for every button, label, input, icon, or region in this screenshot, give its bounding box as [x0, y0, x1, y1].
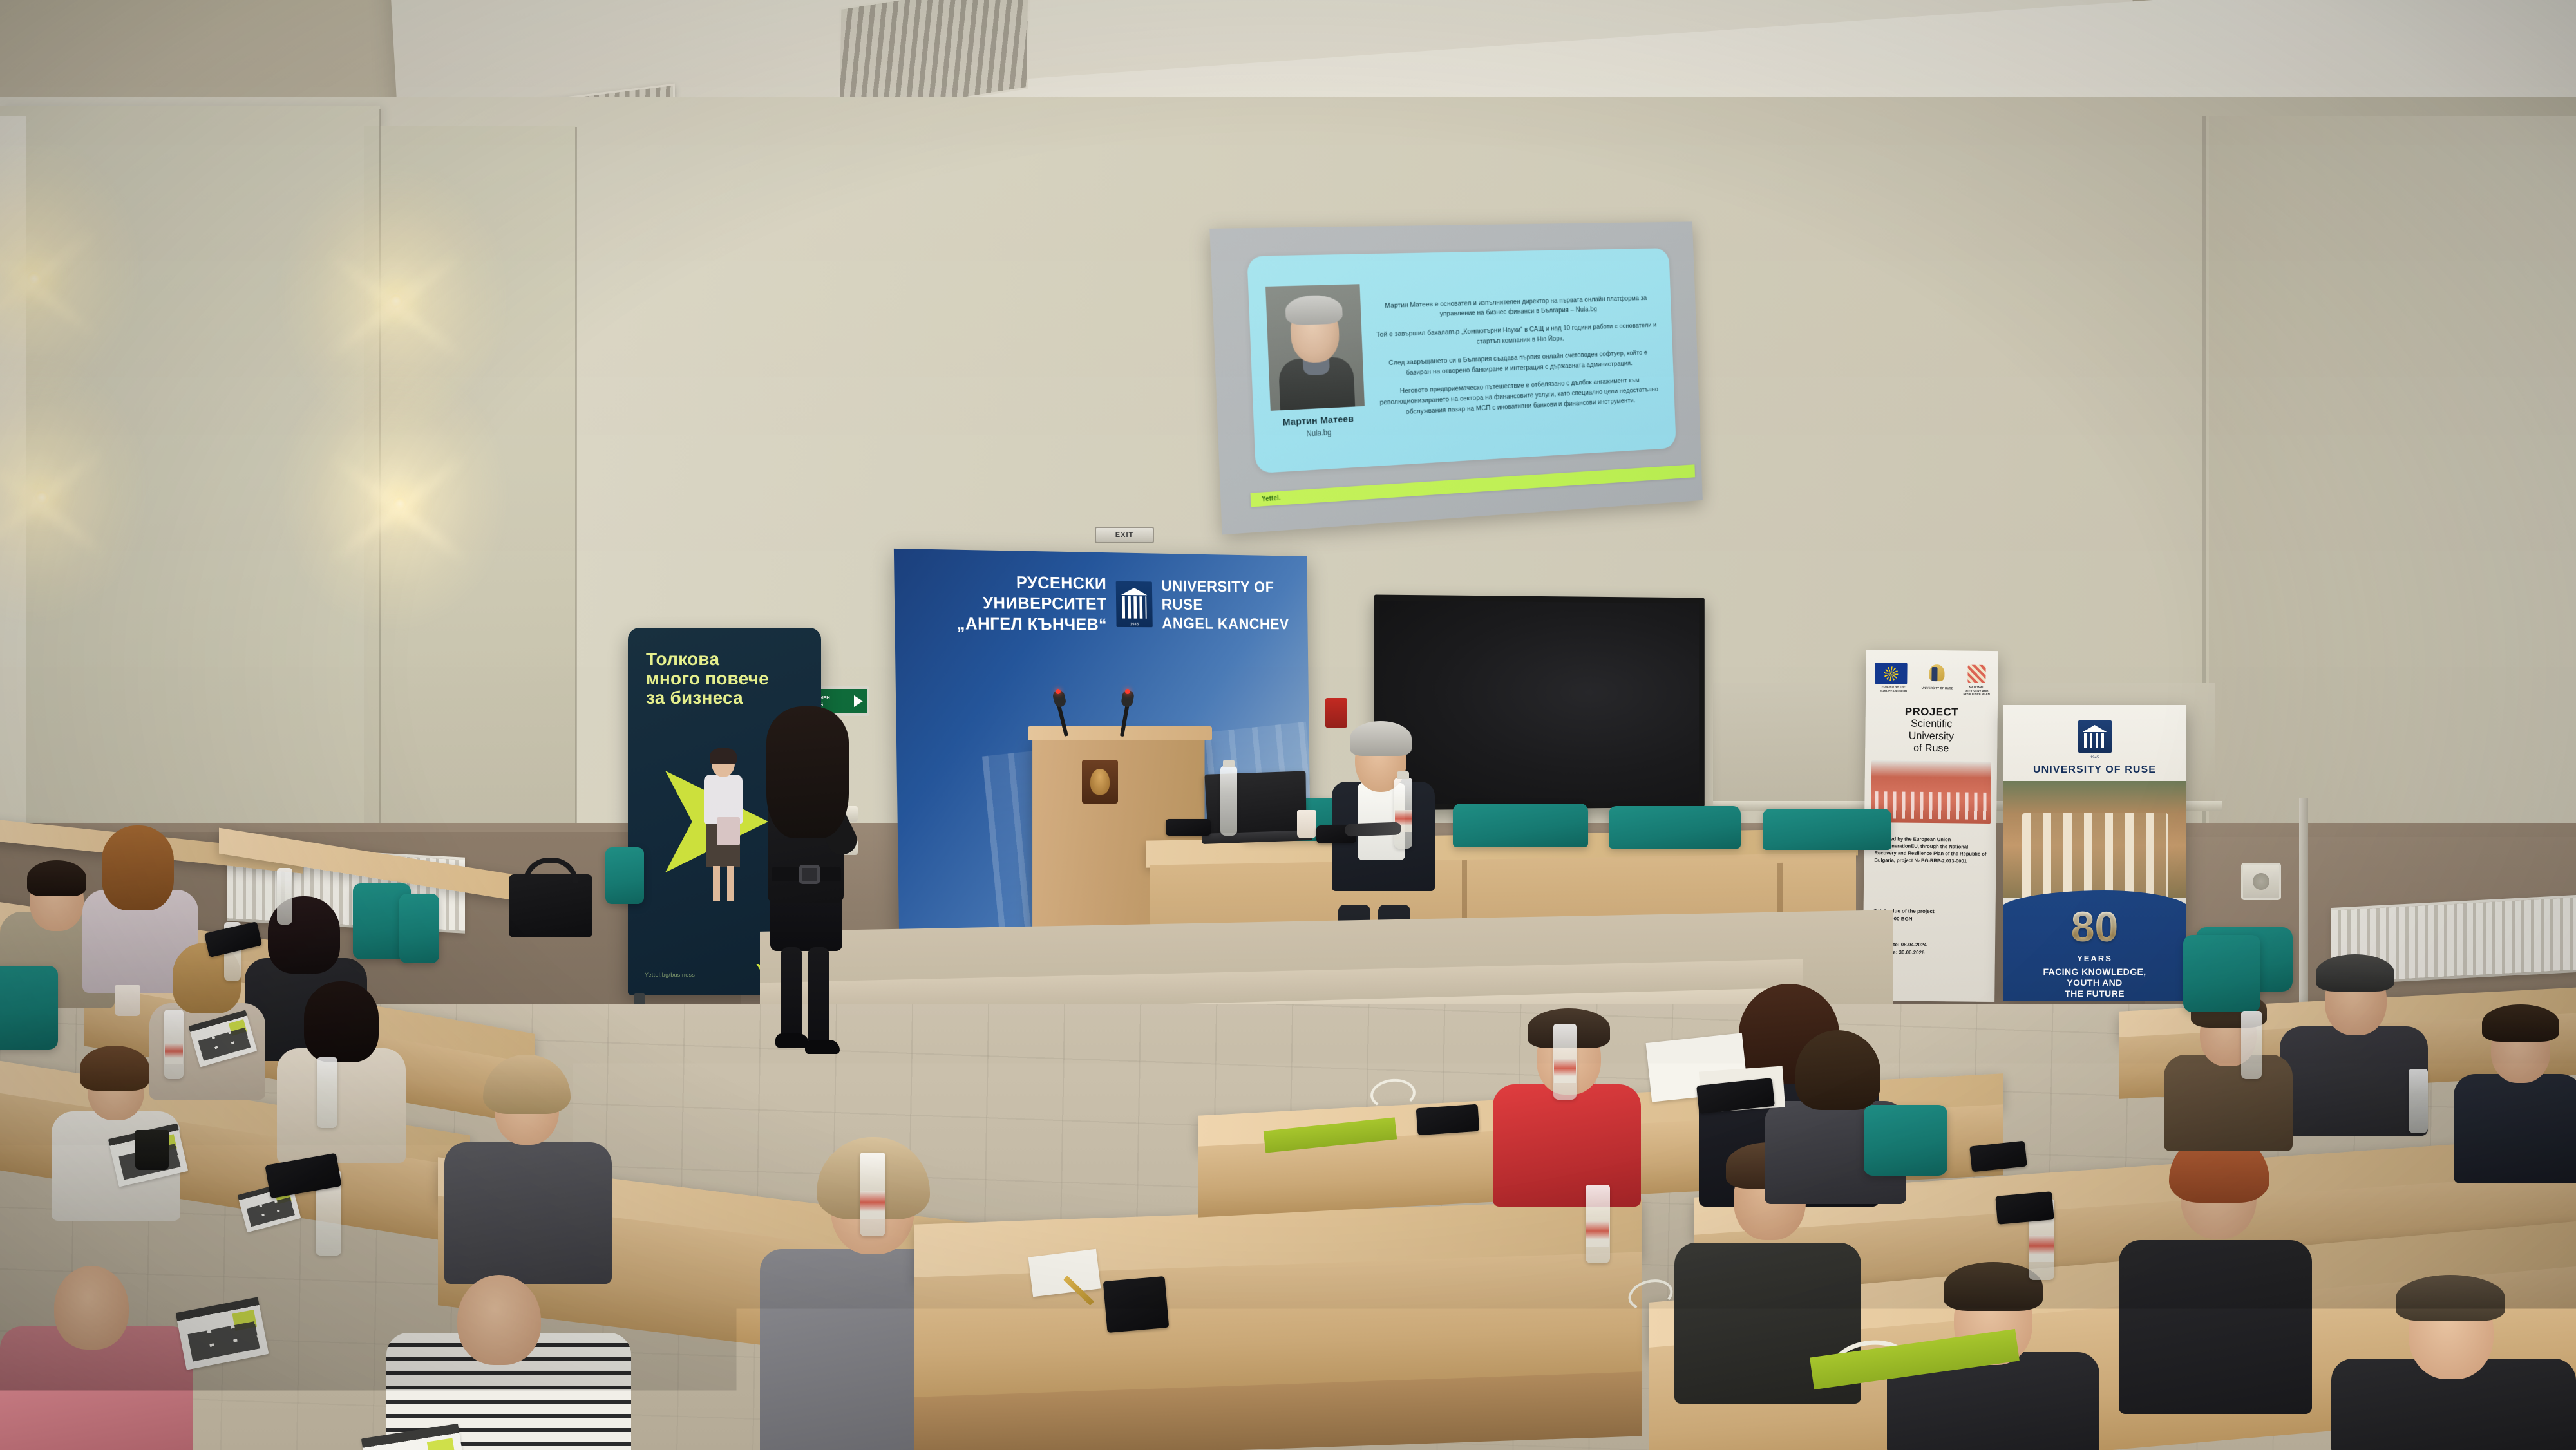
wall-fixture	[2241, 863, 2281, 900]
eu-flag-icon	[1875, 663, 1907, 684]
exit-sign-label: EXIT	[1115, 531, 1133, 539]
slide-portrait-block: Мартин Матеев Nula.bg	[1261, 270, 1370, 457]
wall-seam	[575, 127, 577, 868]
university-logo-year: 1945	[1117, 623, 1153, 627]
anniversary-slogan-line2: YOUTH AND	[2005, 977, 2184, 988]
banner-bulgarian-name: РУСЕНСКИ УНИВЕРСИТЕТ „АНГЕЛ КЪНЧЕВ“	[916, 570, 1107, 635]
university-logo-icon: 1945	[2078, 720, 2112, 753]
eu-flag-logo-block: FUNDED BY THE EUROPEAN UNION	[1875, 663, 1912, 693]
slide-paragraph: Неговото предприемаческо пътешествие е о…	[1378, 375, 1660, 419]
audience-person	[2454, 1004, 2576, 1165]
nrrp-logo-caption: NATIONAL RECOVERY AND RESILIENCE PLAN	[1961, 685, 1992, 697]
banner-bg-line2: „АНГЕЛ КЪНЧЕВ“	[916, 613, 1108, 635]
projection-screen: Мартин Матеев Nula.bg Мартин Матеев е ос…	[1209, 221, 1703, 534]
water-bottle	[2409, 1069, 2428, 1133]
audience-chair[interactable]	[1864, 1105, 1947, 1176]
smartphone[interactable]	[1995, 1191, 2054, 1225]
audience-person	[2331, 1275, 2576, 1450]
anniversary-slogan-line3: THE FUTURE	[2005, 988, 2184, 999]
slide-footer-brand-label: Yettel.	[1262, 494, 1281, 503]
slide-paragraph: След завръщането си в България създава п…	[1377, 348, 1658, 380]
wall-fire-alarm[interactable]	[1325, 698, 1347, 728]
audience-chair[interactable]	[605, 847, 644, 904]
banner-text-row: РУСЕНСКИ УНИВЕРСИТЕТ „АНГЕЛ КЪНЧЕВ“ 1945…	[916, 570, 1297, 636]
bottle-label	[165, 1043, 183, 1064]
project-logo-row: FUNDED BY THE EUROPEAN UNION UNIVERSITY …	[1875, 663, 1993, 697]
audience-person	[2280, 954, 2428, 1122]
audience-person	[2119, 1131, 2312, 1388]
water-bottle	[1220, 766, 1237, 836]
anniversary-rollup-banner: 1945 UNIVERSITY OF RUSE 80 YEARS FACING …	[2003, 705, 2186, 1001]
banner-en-line2: ANGEL KANCHEV	[1162, 614, 1297, 634]
smartphone[interactable]	[1416, 1104, 1480, 1136]
wall-sconce-glow	[277, 361, 509, 631]
uni-logo-block: UNIVERSITY OF RUSE	[1920, 663, 1954, 690]
audience-person	[0, 1262, 193, 1450]
exit-sign: EXIT	[1095, 527, 1154, 543]
laptop-charger	[1166, 819, 1211, 836]
notepad[interactable]	[1028, 1249, 1101, 1297]
audience-person	[277, 979, 406, 1146]
bottle-label	[1586, 1221, 1609, 1247]
audience-chair[interactable]	[399, 894, 439, 963]
audience-chair[interactable]	[0, 966, 58, 1050]
banner-en-line1: UNIVERSITY OF RUSE	[1161, 577, 1296, 616]
audience-chair[interactable]	[2183, 935, 2260, 1012]
slide-speaker-site: Nula.bg	[1306, 428, 1331, 438]
bottle-label	[860, 1191, 885, 1219]
anniversary-university-name: UNIVERSITY OF RUSE	[2003, 764, 2186, 776]
project-title: PROJECT Scientific University of Ruse	[1865, 705, 1998, 756]
rollup-headline-line2: много повече	[646, 669, 812, 688]
audience-person	[386, 1275, 631, 1450]
panel-chair[interactable]	[1609, 806, 1741, 849]
slide-paragraph: Мартин Матеев е основател и изпълнителен…	[1375, 293, 1657, 322]
microphone-led-indicator	[1125, 689, 1130, 694]
nrrp-mark-icon	[1966, 664, 1987, 684]
notebook[interactable]	[1103, 1276, 1170, 1333]
lectern-emblem	[1082, 760, 1118, 804]
anniversary-blue-panel: 80 YEARS FACING KNOWLEDGE, YOUTH AND THE…	[2003, 890, 2186, 1001]
anniversary-years-label: YEARS	[2003, 954, 2186, 963]
panel-chair[interactable]	[1453, 804, 1588, 847]
flyer-qr-code	[232, 1310, 256, 1331]
slide-text-block: Мартин Матеев е основател и изпълнителен…	[1374, 263, 1664, 449]
project-title-line2: Scientific	[1866, 718, 1998, 731]
water-bottle	[2241, 1011, 2262, 1079]
slide-footer-brand-bar: Yettel.	[1251, 464, 1696, 507]
flyer-qr-code	[229, 1019, 247, 1036]
lecture-hall-photo: Мартин Матеев Nula.bg Мартин Матеев е ос…	[0, 0, 2576, 1450]
anniversary-logo-year: 1945	[2078, 756, 2112, 760]
anniversary-building-photo	[2003, 781, 2186, 898]
slide-speaker-name: Мартин Матеев	[1282, 413, 1354, 428]
presenter-person	[741, 699, 902, 1062]
nrrp-logo-block: NATIONAL RECOVERY AND RESILIENCE PLAN	[1961, 663, 1993, 697]
bottle-label	[2029, 1235, 2054, 1262]
bottle-cap	[1397, 771, 1409, 779]
university-logo-icon: 1945	[1116, 581, 1153, 628]
presentation-slide: Мартин Матеев Nula.bg Мартин Матеев е ос…	[1247, 248, 1676, 473]
anniversary-slogan-line1: FACING KNOWLEDGE,	[2005, 966, 2184, 977]
rollup-headline-line1: Толкова	[646, 650, 812, 669]
project-title-line4: of Ruse	[1865, 742, 1997, 756]
audience-person	[444, 1053, 612, 1266]
audience-person	[2164, 992, 2293, 1140]
slide-paragraph: Той е завършил бакалавър „Компютърни Нау…	[1376, 321, 1657, 351]
rollup-url: Yettel.bg/business	[645, 972, 695, 978]
handheld-microphone[interactable]	[1345, 822, 1402, 836]
project-title-line3: University	[1865, 730, 1997, 744]
eu-logo-caption: FUNDED BY THE EUROPEAN UNION	[1875, 685, 1912, 693]
right-wall-panel	[2209, 116, 2576, 843]
anniversary-number: 80	[2003, 907, 2186, 946]
bottle-cap	[1223, 760, 1235, 767]
panel-chair[interactable]	[1763, 809, 1891, 850]
bottle-label	[1554, 1059, 1576, 1083]
panel-speaker-person	[1327, 721, 1449, 914]
banner-bg-line1: РУСЕНСКИ УНИВЕРСИТЕТ	[916, 570, 1107, 614]
project-financing-text: Financed by the European Union – NextGen…	[1874, 835, 1989, 865]
water-bottle	[277, 868, 292, 925]
uni-logo-caption: UNIVERSITY OF RUSE	[1920, 686, 1954, 690]
banner-english-name: UNIVERSITY OF RUSE ANGEL KANCHEV	[1161, 577, 1296, 634]
coffee-cup	[1297, 810, 1316, 838]
water-bottle	[317, 1057, 337, 1128]
coffee-cup	[115, 985, 140, 1016]
project-title-line1: PROJECT	[1866, 705, 1998, 719]
flyer-qr-code	[427, 1438, 455, 1450]
anniversary-slogan: FACING KNOWLEDGE, YOUTH AND THE FUTURE	[2005, 966, 2184, 999]
coffee-cup	[135, 1130, 169, 1170]
speaker-photo	[1265, 284, 1365, 411]
microphone-led-indicator	[1056, 689, 1061, 694]
handbag	[509, 874, 592, 937]
university-mark-icon	[1926, 663, 1948, 685]
